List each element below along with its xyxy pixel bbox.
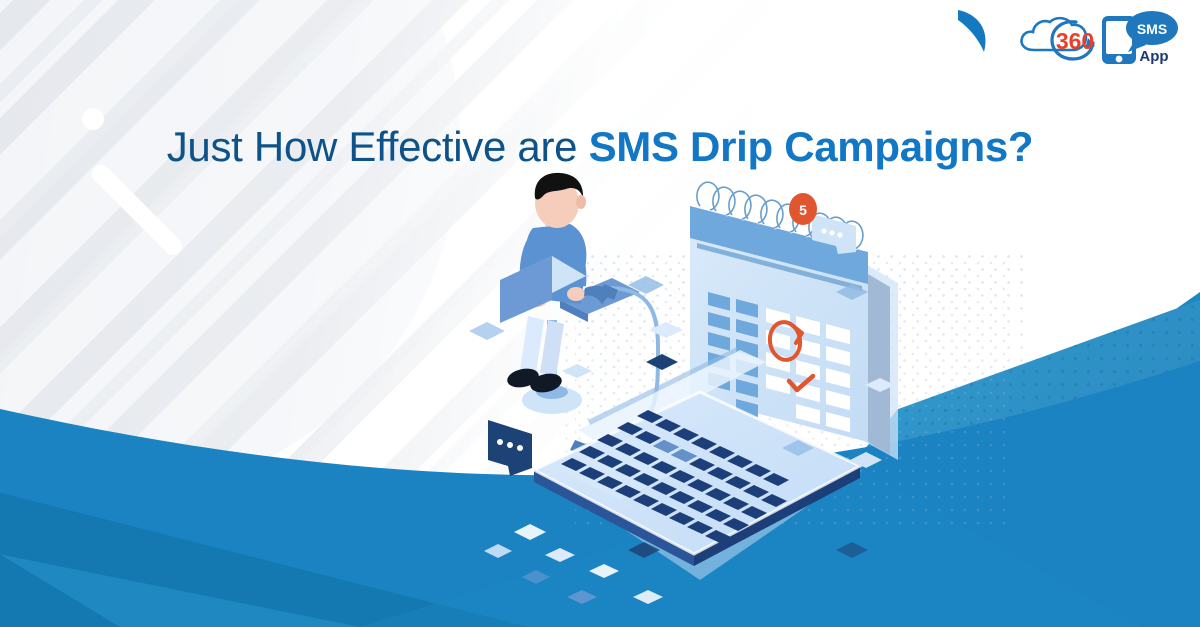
person-leg-right — [540, 320, 564, 376]
diamond-11 — [545, 548, 575, 562]
diamond-13 — [633, 590, 663, 604]
diamond-15 — [522, 570, 550, 584]
diamond-17 — [836, 542, 868, 558]
diamond-12 — [589, 564, 619, 578]
diamond-18 — [484, 544, 512, 558]
page-title: Just How Effective are SMS Drip Campaign… — [0, 124, 1200, 170]
diamond-4 — [469, 322, 505, 340]
illustration: 5 — [0, 0, 1200, 627]
message-bubble-icon — [488, 420, 532, 476]
banner-root: Just How Effective are SMS Drip Campaign… — [0, 0, 1200, 627]
illustration-svg: 5 — [0, 0, 1200, 627]
person-leg-left — [520, 316, 544, 374]
diamond-14 — [567, 590, 597, 604]
person-ear — [576, 195, 586, 209]
notification-badge-count: 5 — [799, 202, 807, 218]
headline-bold: SMS Drip Campaigns? — [589, 123, 1034, 170]
diamond-10 — [514, 524, 546, 540]
headline-regular: Just How Effective are — [167, 123, 589, 170]
